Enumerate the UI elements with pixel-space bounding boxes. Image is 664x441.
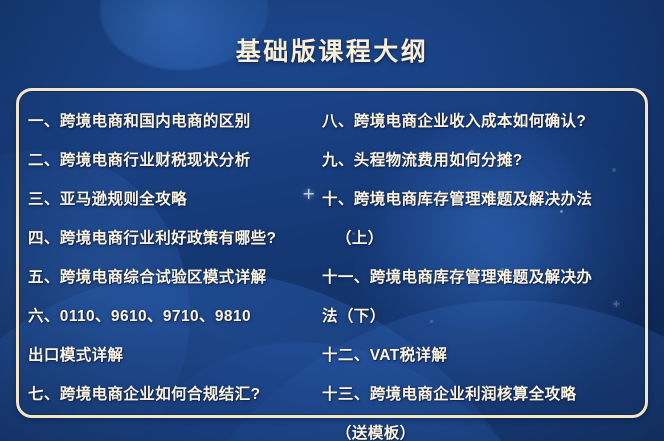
outline-item: 七、跨境电商企业如何合规结汇?: [28, 375, 316, 414]
page-title: 基础版课程大纲: [0, 32, 664, 68]
outline-item-continuation: 法（下）: [322, 297, 648, 336]
outline-right-column: 八、跨境电商企业收入成本如何确认? 九、头程物流费用如何分摊? 十、跨境电商库存…: [316, 102, 648, 418]
outline-item: 六、0110、9610、9710、9810: [28, 297, 316, 336]
outline-item: 一、跨境电商和国内电商的区别: [28, 102, 316, 141]
outline-item-continuation: （送模板）: [322, 414, 648, 441]
outline-item: 四、跨境电商行业利好政策有哪些?: [28, 219, 316, 258]
outline-content: 一、跨境电商和国内电商的区别 二、跨境电商行业财税现状分析 三、亚马逊规则全攻略…: [16, 88, 648, 418]
outline-item: 三、亚马逊规则全攻略: [28, 180, 316, 219]
outline-item: 八、跨境电商企业收入成本如何确认?: [322, 102, 648, 141]
outline-item: 九、头程物流费用如何分摊?: [322, 141, 648, 180]
outline-item: 二、跨境电商行业财税现状分析: [28, 141, 316, 180]
outline-item: 十一、跨境电商库存管理难题及解决办: [322, 258, 648, 297]
outline-item: 十三、跨境电商企业利润核算全攻略: [322, 375, 648, 414]
course-outline-slide: + + + 基础版课程大纲 一、跨境电商和国内电商的区别 二、跨境电商行业财税现…: [0, 0, 664, 441]
outline-item-continuation: （上）: [322, 219, 648, 258]
outline-item: 十、跨境电商库存管理难题及解决办法: [322, 180, 648, 219]
outline-item: 十二、VAT税详解: [322, 336, 648, 375]
outline-item-continuation: 出口模式详解: [28, 336, 316, 375]
outline-left-column: 一、跨境电商和国内电商的区别 二、跨境电商行业财税现状分析 三、亚马逊规则全攻略…: [16, 102, 316, 418]
outline-item: 五、跨境电商综合试验区模式详解: [28, 258, 316, 297]
